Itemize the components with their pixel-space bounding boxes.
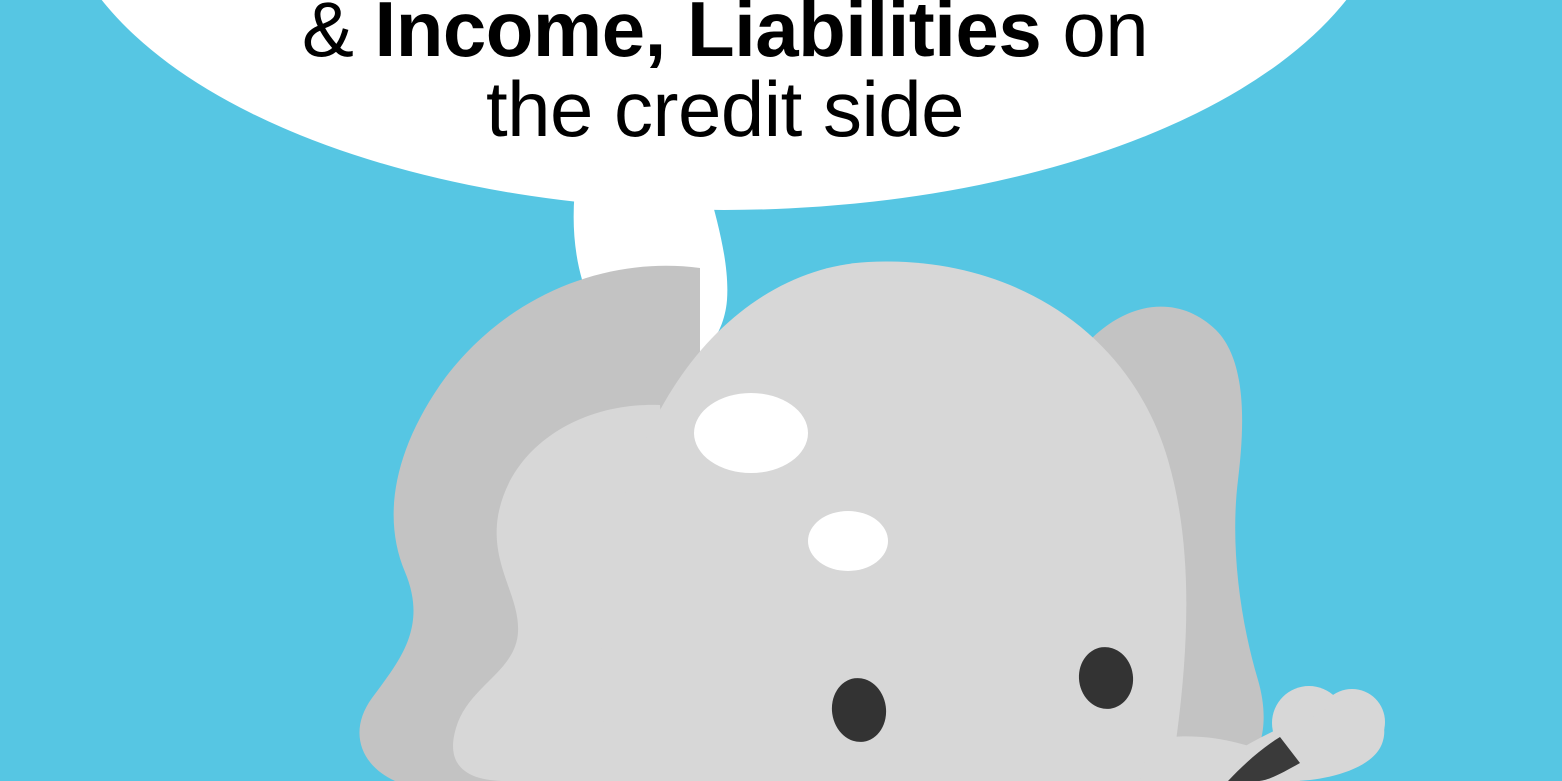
cheek-highlight-large — [694, 393, 808, 473]
cheek-highlight-small — [808, 511, 888, 571]
scene-svg — [0, 0, 1562, 781]
illustration-canvas: & Income, Liabilities on the credit side — [0, 0, 1562, 781]
